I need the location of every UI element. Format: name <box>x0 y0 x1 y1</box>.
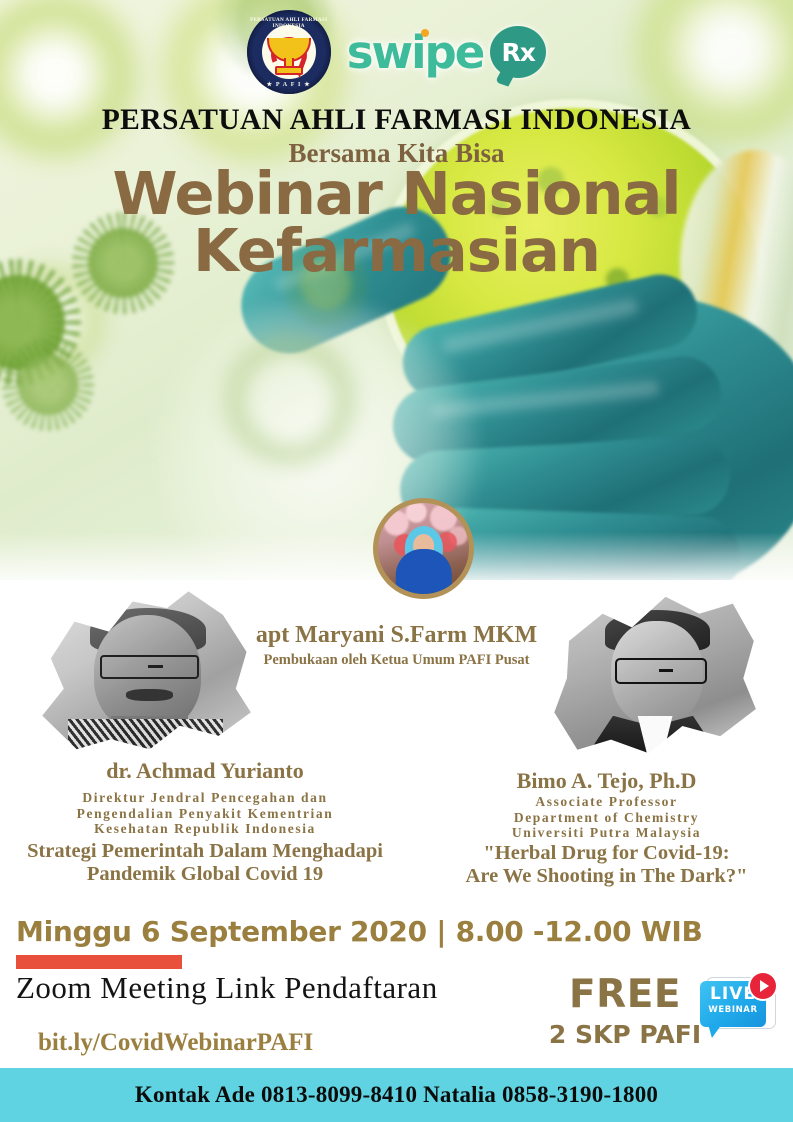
left-speaker-role: Direktur Jendral Pencegahan dan Pengenda… <box>0 790 410 837</box>
swipe-i-dot-icon <box>421 29 429 37</box>
registration-label: Zoom Meeting Link Pendaftaran <box>16 970 438 1006</box>
play-button-icon <box>750 973 776 999</box>
left-speaker-role-line-2: Pengendalian Penyakit Kementrian <box>0 806 410 822</box>
accent-bar <box>16 955 182 969</box>
left-speaker-role-line-3: Kesehatan Republik Indonesia <box>0 821 410 837</box>
contact-footer: Kontak Ade 0813-8099-8410 Natalia 0858-3… <box>0 1068 793 1122</box>
pafi-logo-top-text: PERSATUAN AHLI FARMASI INDONESIA <box>247 17 331 29</box>
right-speaker-topic-line-2: Are We Shooting in The Dark?" <box>420 865 793 888</box>
right-speaker-role-line-2: Department of Chemistry <box>420 810 793 826</box>
left-speaker-topic-line-2: Pandemik Global Covid 19 <box>0 863 410 886</box>
logo-row: PERSATUAN AHLI FARMASI INDONESIA ★ P A F… <box>0 6 793 98</box>
right-speaker-role: Associate Professor Department of Chemis… <box>420 794 793 841</box>
swiperx-logo: swipe Rx <box>347 26 547 78</box>
left-speaker-topic: Strategi Pemerintah Dalam Menghadapi Pan… <box>0 840 410 885</box>
pafi-logo-text: PERSATUAN AHLI FARMASI INDONESIA ★ P A F… <box>247 10 331 94</box>
photo-body <box>395 549 451 595</box>
virus-icon <box>18 355 78 415</box>
left-speaker-role-line-1: Direktur Jendral Pencegahan dan <box>0 790 410 806</box>
right-speaker-role-line-1: Associate Professor <box>420 794 793 810</box>
pafi-logo-icon: PERSATUAN AHLI FARMASI INDONESIA ★ P A F… <box>247 10 331 94</box>
contact-text: Kontak Ade 0813-8099-8410 Natalia 0858-3… <box>135 1082 658 1108</box>
price-label: FREE <box>540 972 710 1017</box>
rx-label: Rx <box>502 38 535 67</box>
organization-name: PERSATUAN AHLI FARMASI INDONESIA <box>0 104 793 137</box>
center-speaker-avatar <box>373 498 474 599</box>
credits-label: 2 SKP PAFI <box>540 1020 710 1049</box>
title-line-2: Kefarmasian <box>0 223 793 280</box>
page-title: Webinar Nasional Kefarmasian <box>0 166 793 279</box>
left-speaker-name: dr. Achmad Yurianto <box>0 758 410 784</box>
swiperx-wordmark: swipe <box>347 30 484 75</box>
right-speaker-role-line-3: Universiti Putra Malaysia <box>420 825 793 841</box>
photo-glasses <box>100 655 199 679</box>
right-speaker-name: Bimo A. Tejo, Ph.D <box>420 768 793 794</box>
live-webinar-badge: LIVE WEBINAR <box>700 975 778 1037</box>
background-glow-blob <box>215 330 365 470</box>
webinar-poster: PERSATUAN AHLI FARMASI INDONESIA ★ P A F… <box>0 0 793 1122</box>
photo-glasses <box>615 658 707 684</box>
badge-speech-tail <box>708 1024 722 1038</box>
event-datetime: Minggu 6 September 2020 | 8.00 -12.00 WI… <box>16 915 703 948</box>
registration-link[interactable]: bit.ly/CovidWebinarPAFI <box>38 1029 313 1057</box>
right-speaker-topic-line-1: "Herbal Drug for Covid-19: <box>420 842 793 865</box>
right-speaker-topic: "Herbal Drug for Covid-19: Are We Shooti… <box>420 842 793 887</box>
center-speaker-photo <box>378 503 469 594</box>
photo-mustache <box>126 689 173 701</box>
badge-webinar-text: WEBINAR <box>700 1005 766 1015</box>
rx-speech-bubble-icon: Rx <box>490 26 546 78</box>
left-speaker-topic-line-1: Strategi Pemerintah Dalam Menghadapi <box>0 840 410 863</box>
pafi-logo-bottom-text: ★ P A F I ★ <box>247 81 331 88</box>
